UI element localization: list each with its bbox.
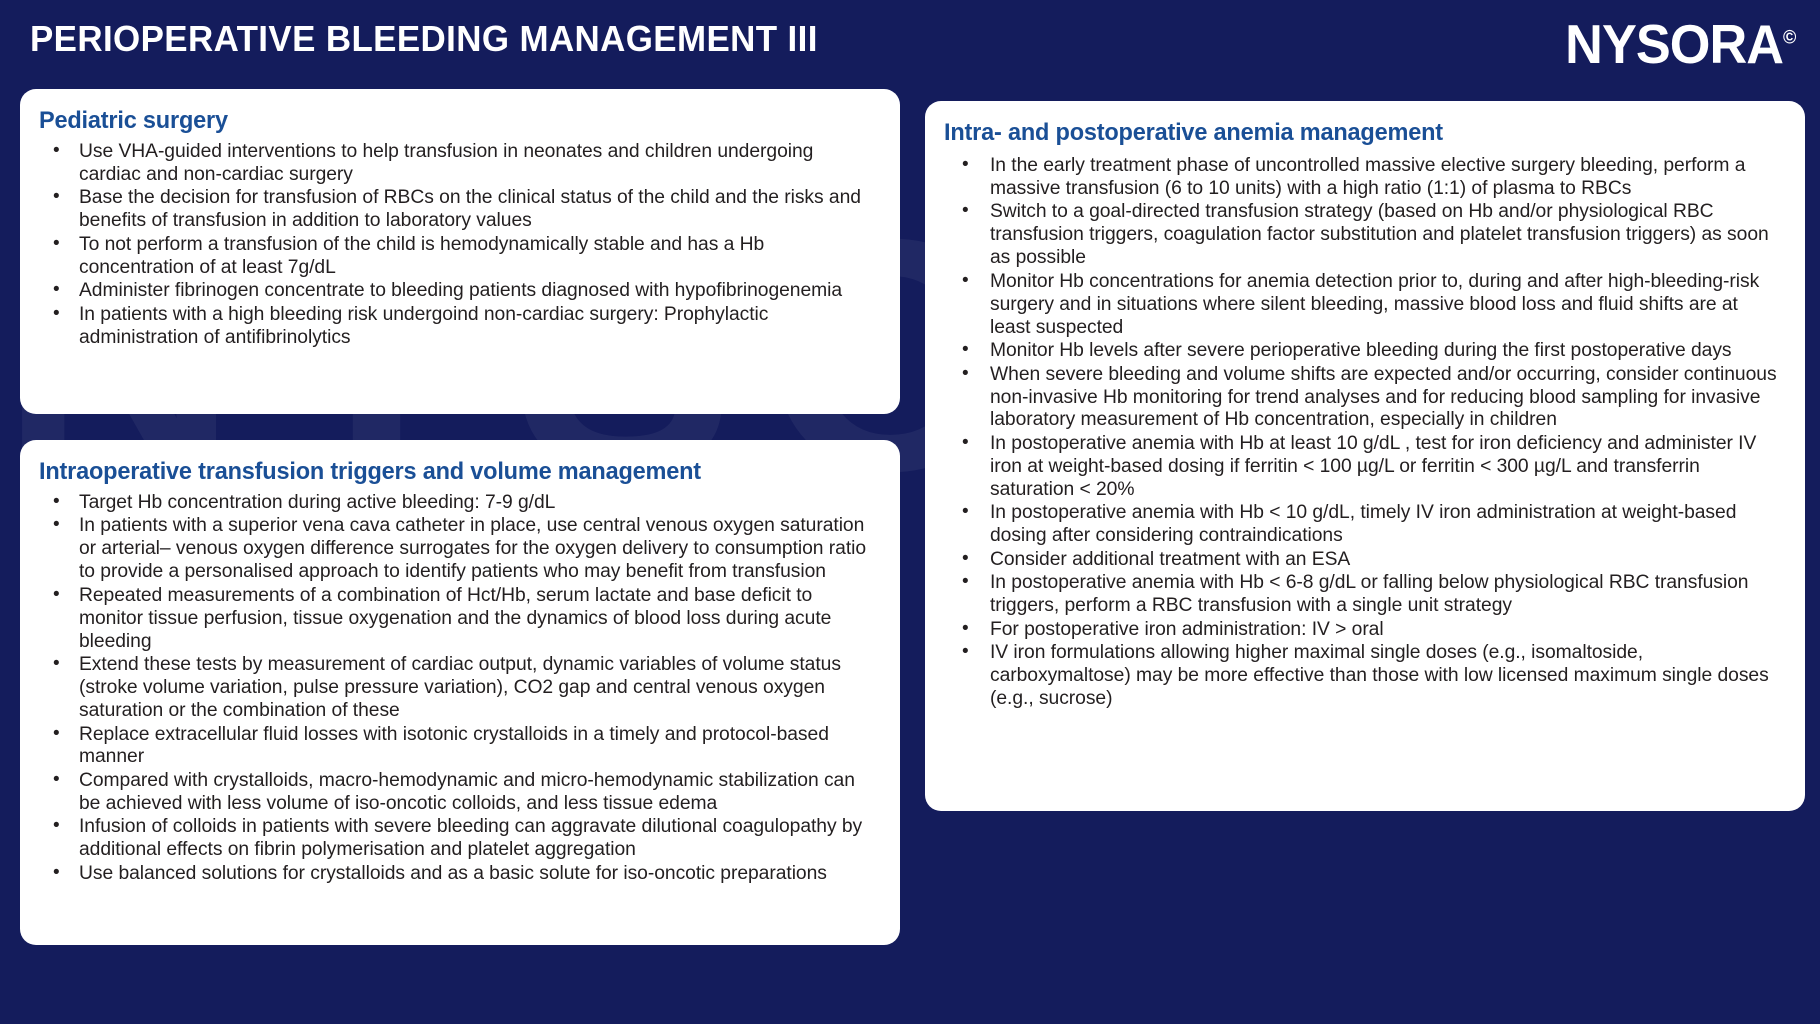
- card-pediatric-surgery: Pediatric surgery Use VHA-guided interve…: [20, 89, 900, 414]
- list-item: For postoperative iron administration: I…: [944, 619, 1779, 642]
- nysora-logo-text: NYSORA: [1565, 13, 1783, 75]
- list-item: Base the decision for transfusion of RBC…: [39, 187, 874, 233]
- list-item: When severe bleeding and volume shifts a…: [944, 364, 1779, 433]
- list-item: To not perform a transfusion of the chil…: [39, 234, 874, 280]
- list-item: Target Hb concentration during active bl…: [39, 492, 874, 515]
- page-header: PERIOPERATIVE BLEEDING MANAGEMENT III NY…: [0, 0, 1820, 88]
- copyright-icon: ©: [1783, 28, 1796, 49]
- list-item: Compared with crystalloids, macro-hemody…: [39, 770, 874, 816]
- list-item: Replace extracellular fluid losses with …: [39, 724, 874, 770]
- list-item: Consider additional treatment with an ES…: [944, 549, 1779, 572]
- list-item: Extend these tests by measurement of car…: [39, 654, 874, 723]
- list-item: In patients with a high bleeding risk un…: [39, 304, 874, 350]
- list-item: Administer fibrinogen concentrate to ble…: [39, 280, 874, 303]
- card-heading: Intraoperative transfusion triggers and …: [39, 458, 857, 486]
- card-anemia-management: Intra- and postoperative anemia manageme…: [925, 101, 1805, 811]
- list-item: Infusion of colloids in patients with se…: [39, 816, 874, 862]
- page-title: PERIOPERATIVE BLEEDING MANAGEMENT III: [30, 18, 818, 60]
- card-intraoperative-transfusion: Intraoperative transfusion triggers and …: [20, 440, 900, 945]
- bullet-list: In the early treatment phase of uncontro…: [944, 155, 1779, 711]
- list-item: Monitor Hb levels after severe periopera…: [944, 340, 1779, 363]
- list-item: In postoperative anemia with Hb < 10 g/d…: [944, 502, 1779, 548]
- bullet-list: Target Hb concentration during active bl…: [39, 492, 874, 886]
- list-item: Use balanced solutions for crystalloids …: [39, 863, 874, 886]
- list-item: In postoperative anemia with Hb < 6-8 g/…: [944, 572, 1779, 618]
- list-item: Monitor Hb concentrations for anemia det…: [944, 271, 1779, 340]
- card-heading: Intra- and postoperative anemia manageme…: [944, 119, 1762, 147]
- list-item: In the early treatment phase of uncontro…: [944, 155, 1779, 201]
- list-item: IV iron formulations allowing higher max…: [944, 642, 1779, 711]
- list-item: Switch to a goal-directed transfusion st…: [944, 201, 1779, 270]
- bullet-list: Use VHA-guided interventions to help tra…: [39, 141, 874, 350]
- list-item: In postoperative anemia with Hb at least…: [944, 433, 1779, 502]
- card-heading: Pediatric surgery: [39, 107, 857, 135]
- list-item: In patients with a superior vena cava ca…: [39, 515, 874, 584]
- nysora-logo: NYSORA©: [1565, 12, 1796, 76]
- list-item: Use VHA-guided interventions to help tra…: [39, 141, 874, 187]
- list-item: Repeated measurements of a combination o…: [39, 585, 874, 654]
